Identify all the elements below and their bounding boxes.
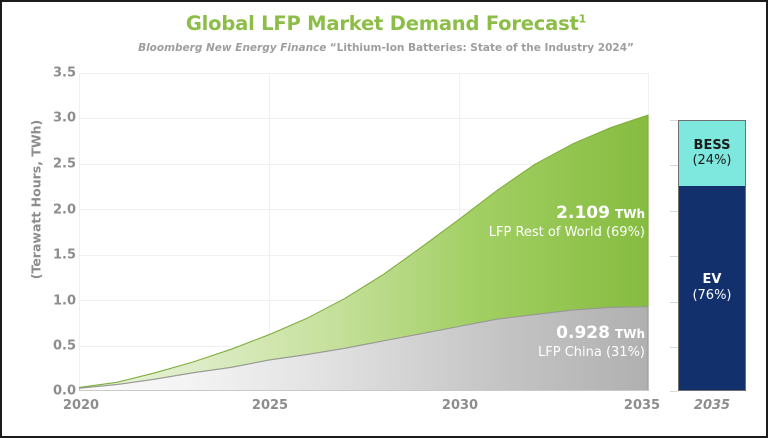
chart-subtitle: Bloomberg New Energy Finance “Lithium-Io…	[2, 42, 768, 54]
title-footnote-marker: 1	[579, 13, 586, 26]
y-tick-label: 1.0	[16, 294, 76, 309]
y-tick-label: 3.0	[16, 111, 76, 126]
annotation-rest-of-world: 2.109 TWh LFP Rest of World (69%)	[489, 203, 645, 242]
subtitle-source: Bloomberg New Energy Finance	[138, 42, 326, 54]
x-tick-label: 2020	[63, 398, 99, 413]
x-axis-line	[79, 390, 649, 392]
annotation-row-unit: TWh	[615, 207, 645, 221]
annotation-row-caption: LFP Rest of World (69%)	[489, 225, 645, 241]
bar-segment-ev-label: EV	[703, 272, 722, 288]
bar-axis-label: 2035	[678, 398, 746, 413]
bar-tick	[670, 347, 678, 348]
subtitle-quote: “Lithium-Ion Batteries: State of the Ind…	[330, 42, 634, 54]
x-tick-label: 2035	[624, 398, 660, 413]
annotation-china-unit: TWh	[615, 327, 645, 341]
chart-title: Global LFP Market Demand Forecast1	[2, 12, 768, 35]
chart-title-text: Global LFP Market Demand Forecast	[186, 12, 579, 35]
bar-tick	[670, 256, 678, 257]
y-axis-title: (Terawatt Hours, TWh)	[29, 70, 44, 330]
y-tick-label: 0.0	[16, 384, 76, 399]
bar-segment-ev: EV (76%)	[679, 186, 745, 390]
x-tick-label: 2030	[442, 398, 478, 413]
y-tick-label: 0.5	[16, 339, 76, 354]
bar-segment-ev-percent: (76%)	[692, 288, 731, 304]
annotation-china-caption: LFP China (31%)	[538, 345, 645, 361]
bar-segment-bess-label: BESS	[694, 138, 731, 154]
bar-tick	[670, 391, 678, 392]
y-tick-label: 3.5	[16, 66, 76, 81]
annotation-row-value: 2.109	[556, 203, 610, 223]
bar-segment-bess: BESS (24%)	[679, 121, 745, 186]
y-tick-label: 2.5	[16, 157, 76, 172]
bar-segment-bess-percent: (24%)	[692, 153, 731, 169]
annotation-china: 0.928 TWh LFP China (31%)	[538, 323, 645, 362]
chart-figure: Global LFP Market Demand Forecast1 Bloom…	[0, 0, 768, 438]
y-tick-label: 2.0	[16, 203, 76, 218]
bar-tick	[670, 302, 678, 303]
y-tick-label: 1.5	[16, 248, 76, 263]
bar-tick	[670, 211, 678, 212]
x-tick-label: 2025	[252, 398, 288, 413]
bar-tick	[670, 120, 678, 121]
bar-tick	[670, 165, 678, 166]
breakdown-stacked-bar: BESS (24%) EV (76%)	[678, 120, 746, 391]
annotation-china-value: 0.928	[556, 323, 610, 343]
